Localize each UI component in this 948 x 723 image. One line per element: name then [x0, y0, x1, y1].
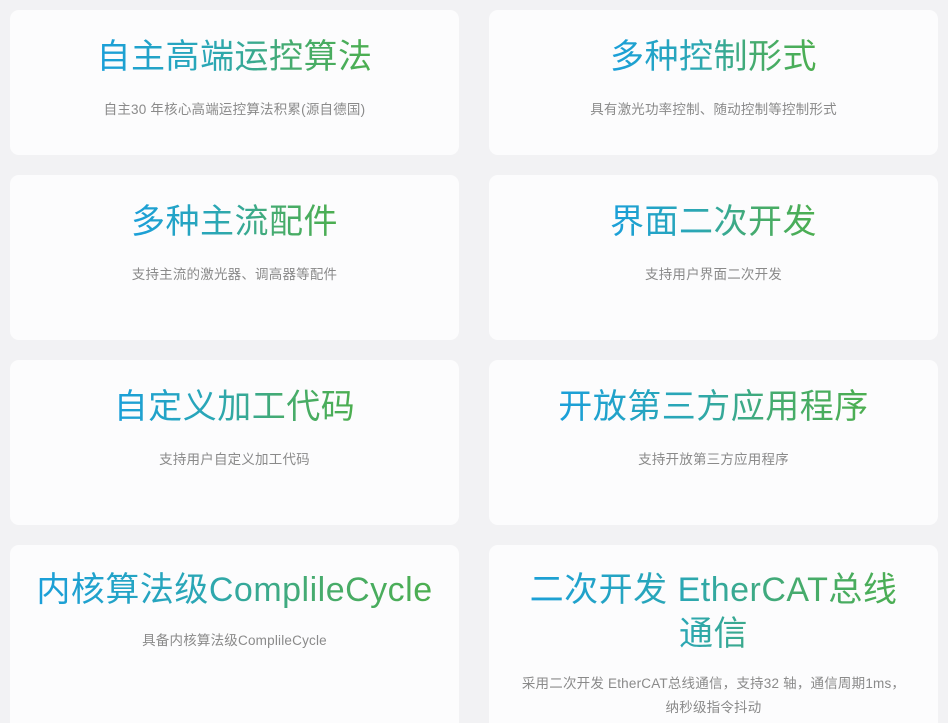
- feature-card-subtitle: 支持开放第三方应用程序: [638, 448, 789, 472]
- feature-card-5[interactable]: 自定义加工代码 支持用户自定义加工代码: [10, 360, 459, 525]
- feature-card-title: 开放第三方应用程序: [558, 386, 869, 430]
- feature-card-title: 二次开发 EtherCAT总线通信: [516, 569, 911, 656]
- feature-card-6[interactable]: 开放第三方应用程序 支持开放第三方应用程序: [489, 360, 938, 525]
- feature-card-8[interactable]: 二次开发 EtherCAT总线通信 采用二次开发 EtherCAT总线通信，支持…: [489, 545, 938, 723]
- feature-card-grid: 自主高端运控算法 自主30 年核心高端运控算法积累(源自德国) 多种控制形式 具…: [0, 0, 948, 723]
- feature-card-title: 内核算法级ComplileCycle: [36, 569, 432, 613]
- feature-card-subtitle: 具有激光功率控制、随动控制等控制形式: [590, 98, 837, 122]
- feature-card-3[interactable]: 多种主流配件 支持主流的激光器、调高器等配件: [10, 175, 459, 340]
- feature-card-subtitle: 具备内核算法级ComplileCycle: [142, 629, 327, 653]
- feature-card-subtitle: 自主30 年核心高端运控算法积累(源自德国): [104, 98, 366, 122]
- feature-card-title: 自主高端运控算法: [97, 36, 373, 80]
- feature-card-2[interactable]: 多种控制形式 具有激光功率控制、随动控制等控制形式: [489, 10, 938, 155]
- feature-card-7[interactable]: 内核算法级ComplileCycle 具备内核算法级ComplileCycle: [10, 545, 459, 723]
- feature-card-subtitle: 支持主流的激光器、调高器等配件: [132, 263, 338, 287]
- feature-card-1[interactable]: 自主高端运控算法 自主30 年核心高端运控算法积累(源自德国): [10, 10, 459, 155]
- feature-card-title: 界面二次开发: [610, 201, 817, 245]
- feature-card-title: 多种控制形式: [610, 36, 817, 80]
- feature-card-subtitle: 支持用户自定义加工代码: [159, 448, 310, 472]
- feature-card-subtitle: 支持用户界面二次开发: [645, 263, 782, 287]
- feature-card-subtitle: 采用二次开发 EtherCAT总线通信，支持32 轴，通信周期1ms，纳秒级指令…: [519, 672, 909, 719]
- feature-card-title: 自定义加工代码: [114, 386, 356, 430]
- feature-card-title: 多种主流配件: [131, 201, 338, 245]
- feature-card-4[interactable]: 界面二次开发 支持用户界面二次开发: [489, 175, 938, 340]
